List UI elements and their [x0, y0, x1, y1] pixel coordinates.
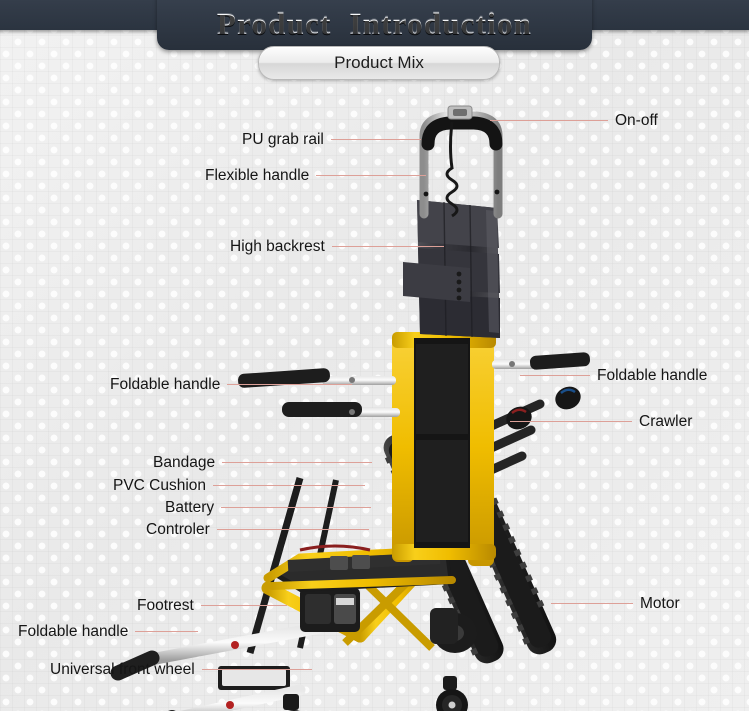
callout-on-off: On-off [490, 113, 658, 129]
callout-label: Bandage [153, 455, 215, 471]
callout-footrest: Footrest [137, 598, 287, 614]
callout-pvc-cushion: PVC Cushion [113, 478, 365, 494]
callout-motor: Motor [551, 596, 680, 612]
callout-high-backrest: High backrest [230, 239, 444, 255]
callout-crawler: Crawler [510, 414, 692, 430]
callout-label: Motor [640, 596, 680, 612]
foldable-handle-left-lower [282, 402, 400, 417]
leader-line [510, 421, 632, 422]
callout-controler: Controler [146, 522, 369, 538]
leader-line [490, 120, 608, 121]
callout-label: Foldable handle [597, 368, 707, 384]
pu-grab-rail [424, 106, 500, 216]
leader-line [135, 631, 198, 632]
callout-label: Footrest [137, 598, 194, 614]
rear-caster-wheel [436, 676, 468, 711]
foldable-handle-lower [140, 690, 300, 711]
callout-foldable-handle-left-mid: Foldable handle [110, 377, 352, 393]
callout-label: On-off [615, 113, 658, 129]
high-backrest [403, 200, 500, 338]
callout-label: Foldable handle [110, 377, 220, 393]
callout-universal-front-wheel: Universal front wheel [50, 662, 312, 678]
leader-line [221, 507, 371, 508]
callout-label: Flexible handle [205, 168, 309, 184]
product-mix-button[interactable]: Product Mix [258, 46, 500, 80]
leader-line [201, 605, 287, 606]
page-title: Product Introduction [157, 2, 592, 46]
leader-line [331, 139, 421, 140]
leader-line [316, 175, 426, 176]
main-yellow-frame [392, 326, 496, 566]
callout-label: High backrest [230, 239, 325, 255]
callout-label: Crawler [639, 414, 692, 430]
callout-foldable-handle-right: Foldable handle [520, 368, 707, 384]
product-introduction-page: Product Introduction Product Mix [0, 0, 749, 711]
leader-line [551, 603, 633, 604]
callout-flexible-handle: Flexible handle [205, 168, 426, 184]
leader-line [332, 246, 444, 247]
callout-bandage: Bandage [153, 455, 372, 471]
on-off-switch [448, 106, 472, 119]
battery-and-controller [300, 588, 360, 632]
callout-label: Universal front wheel [50, 662, 195, 678]
callout-label: Foldable handle [18, 624, 128, 640]
leader-line [222, 462, 372, 463]
leader-line [520, 375, 590, 376]
callout-label: Controler [146, 522, 210, 538]
callout-foldable-handle-lower: Foldable handle [18, 624, 198, 640]
callout-label: PVC Cushion [113, 478, 206, 494]
callout-label: Battery [165, 500, 214, 516]
leader-line [217, 529, 369, 530]
callout-label: PU grab rail [242, 132, 324, 148]
callout-battery: Battery [165, 500, 371, 516]
callout-pu-grab-rail: PU grab rail [242, 132, 421, 148]
leader-line [213, 485, 365, 486]
leader-line [202, 669, 312, 670]
leader-line [227, 384, 352, 385]
